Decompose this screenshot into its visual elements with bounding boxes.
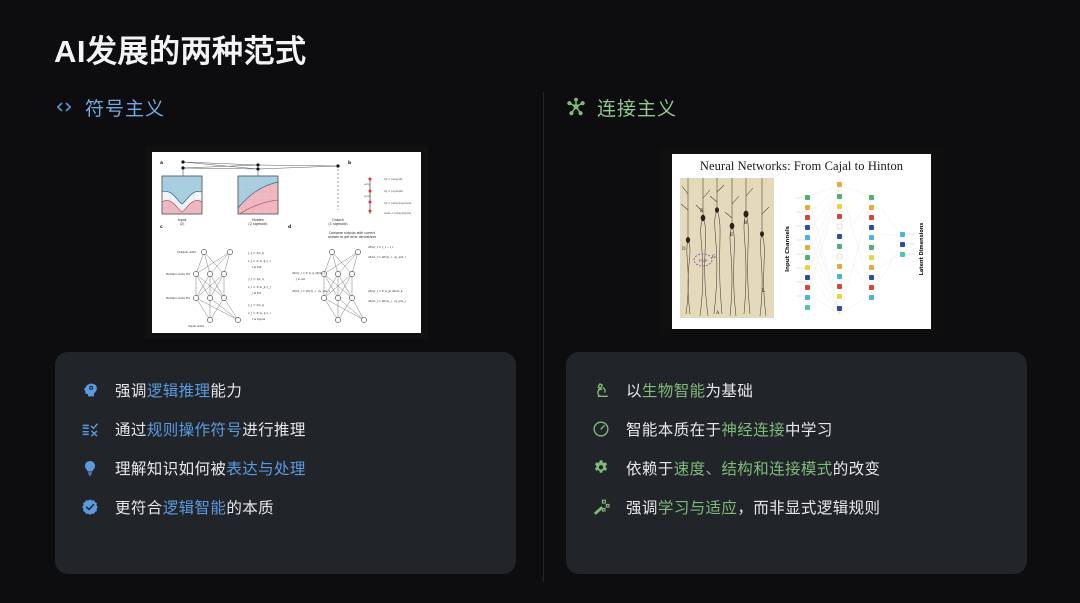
column-connectionism: 连接主义 (566, 92, 1036, 122)
figure-title: Neural Networks: From Cajal to Hinton (672, 154, 931, 174)
list-item-text: 智能本质在于神经连接中学习 (626, 418, 833, 440)
backprop-diagram: a b c d (152, 152, 421, 333)
svg-text:∂E/∂z_i = ∂E/∂y_i · ∂y_i/∂z_i: ∂E/∂z_i = ∂E/∂y_i · ∂y_i/∂z_i (292, 289, 330, 293)
svg-text:Δy = (∂y/∂x)Δx: Δy = (∂y/∂x)Δx (384, 189, 404, 193)
list-item[interactable]: 强调逻辑推理能力 (80, 370, 498, 409)
svg-text:(2): (2) (180, 222, 185, 226)
list-item[interactable]: 更符合逻辑智能的本质 (80, 487, 498, 526)
svg-text:y_i = f(z_i): y_i = f(z_i) (247, 277, 264, 281)
svg-text:L: L (762, 288, 765, 294)
math-operations-icon (80, 419, 100, 439)
column-heading-connectionism: 连接主义 (566, 92, 1036, 122)
svg-text:Input Channels: Input Channels (785, 226, 791, 272)
list-item[interactable]: 智能本质在于神经连接中学习 (591, 409, 1009, 448)
svg-text:E: E (730, 232, 733, 238)
list-item[interactable]: 强调学习与适应，而非显式逻辑规则 (591, 487, 1009, 526)
svg-text:Output units: Output units (177, 250, 196, 254)
figure-neural-networks: Neural Networks: From Cajal to Hinton (660, 148, 943, 335)
list-item[interactable]: 以生物智能为基础 (591, 370, 1009, 409)
bullet-list-symbolism: 强调逻辑推理能力 通过规则操作符号进行推理 (80, 370, 498, 526)
svg-text:D: D (682, 246, 686, 252)
svg-text:i ∈ H2: i ∈ H2 (252, 265, 262, 269)
figure-backpropagation-image: a b c d (152, 152, 421, 333)
list-item-text: 更符合逻辑智能的本质 (115, 496, 274, 518)
slide-root: AI发展的两种范式 符号主义 a b c d (0, 0, 1080, 603)
column-symbolism: 符号主义 (54, 92, 524, 122)
list-item-text: 理解知识如何被表达与处理 (115, 457, 306, 479)
column-divider (543, 92, 544, 582)
svg-text:Latent Dimensions: Latent Dimensions (919, 223, 925, 276)
verified-badge-icon (80, 497, 100, 517)
gear-icon (591, 458, 611, 478)
svg-text:∂E/∂z_l = ∂E/∂y_l · ∂y_l/∂z_l: ∂E/∂z_l = ∂E/∂y_l · ∂y_l/∂z_l (368, 255, 406, 259)
network-nodes-icon (566, 97, 586, 117)
svg-text:∂y/∂x: ∂y/∂x (364, 195, 371, 198)
microscope-icon (591, 380, 611, 400)
svg-text:Hidden units H1: Hidden units H1 (166, 296, 190, 300)
column-heading-label: 连接主义 (597, 94, 677, 121)
svg-text:j ∈ out: j ∈ out (295, 277, 306, 281)
svg-text:∂z/∂y: ∂z/∂y (364, 183, 371, 186)
svg-text:z_j = Σ w_ij y_i: z_j = Σ w_ij y_i (248, 259, 271, 263)
list-item-text: 通过规则操作符号进行推理 (115, 418, 306, 440)
page-title: AI发展的两种范式 (54, 26, 307, 71)
list-item-text: 依赖于速度、结构和连接模式的改变 (626, 457, 880, 479)
figure-backpropagation: a b c d (145, 146, 428, 339)
svg-text:F: F (700, 208, 703, 214)
svg-text:y_j = f(z_j): y_j = f(z_j) (247, 251, 264, 255)
svg-text:G: G (712, 254, 716, 260)
figure-neural-networks-image: Neural Networks: From Cajal to Hinton (672, 154, 931, 329)
svg-text:∂E/∂y_i = Σ w_ij ∂E/∂z_j: ∂E/∂y_i = Σ w_ij ∂E/∂z_j (292, 271, 325, 275)
svg-text:PNP: PNP (699, 258, 708, 263)
card-symbolism: 强调逻辑推理能力 通过规则操作符号进行推理 (55, 352, 516, 574)
svg-text:y_j = f(z_j): y_j = f(z_j) (247, 303, 264, 307)
svg-text:Hidden units H2: Hidden units H2 (166, 272, 190, 276)
list-item[interactable]: 理解知识如何被表达与处理 (80, 448, 498, 487)
list-item[interactable]: 通过规则操作符号进行推理 (80, 409, 498, 448)
list-item[interactable]: 依赖于速度、结构和连接模式的改变 (591, 448, 1009, 487)
column-heading-label: 符号主义 (85, 94, 165, 121)
svg-text:∂E/∂y_l = y_l − t_l: ∂E/∂y_l = y_l − t_l (368, 245, 393, 249)
svg-text:Δz = (∂z/∂y)(∂y/∂x)Δx: Δz = (∂z/∂y)(∂y/∂x)Δx (384, 201, 412, 205)
svg-text:a: a (160, 161, 163, 166)
svg-text:∂z/∂x = (∂z/∂y)(∂y/∂x): ∂z/∂x = (∂z/∂y)(∂y/∂x) (384, 211, 411, 215)
magic-wand-icon (591, 497, 611, 517)
svg-text:c: c (160, 225, 163, 230)
lightbulb-icon (80, 458, 100, 478)
svg-text:answer to get error derivative: answer to get error derivatives (328, 235, 376, 239)
svg-text:j ∈ H1: j ∈ H1 (251, 291, 262, 295)
svg-text:Δz = (∂z/∂y)Δy: Δz = (∂z/∂y)Δy (384, 177, 403, 181)
list-item-text: 强调学习与适应，而非显式逻辑规则 (626, 496, 880, 518)
cajal-to-hinton-diagram: DFG EBLA PNP Input Channels Latent Dimen… (672, 174, 931, 324)
svg-text:∂E/∂z_j = ∂E/∂y_j · ∂y_j/∂z_j: ∂E/∂z_j = ∂E/∂y_j · ∂y_j/∂z_j (368, 299, 406, 303)
svg-text:d: d (288, 224, 291, 230)
svg-text:z_j = Σ w_ij x_i: z_j = Σ w_ij x_i (248, 311, 271, 315)
svg-text:(1 sigmoid): (1 sigmoid) (328, 222, 348, 226)
svg-text:z_i = Σ w_ji y_j: z_i = Σ w_ji y_j (248, 285, 271, 289)
svg-text:i ∈ Input: i ∈ Input (252, 317, 266, 321)
bullet-list-connectionism: 以生物智能为基础 智能本质在于神经连接中学习 (591, 370, 1009, 526)
svg-text:Input units: Input units (188, 324, 205, 328)
svg-text:(2 sigmoid): (2 sigmoid) (248, 222, 268, 226)
svg-text:∂E/∂y_j = Σ w_jk ∂E/∂z_k: ∂E/∂y_j = Σ w_jk ∂E/∂z_k (368, 289, 403, 293)
list-item-text: 以生物智能为基础 (626, 379, 753, 401)
list-item-text: 强调逻辑推理能力 (115, 379, 242, 401)
card-connectionism: 以生物智能为基础 智能本质在于神经连接中学习 (566, 352, 1027, 574)
gauge-icon (591, 419, 611, 439)
brain-circuit-icon (80, 380, 100, 400)
code-brackets-icon (54, 97, 74, 117)
column-heading-symbolism: 符号主义 (54, 92, 524, 122)
